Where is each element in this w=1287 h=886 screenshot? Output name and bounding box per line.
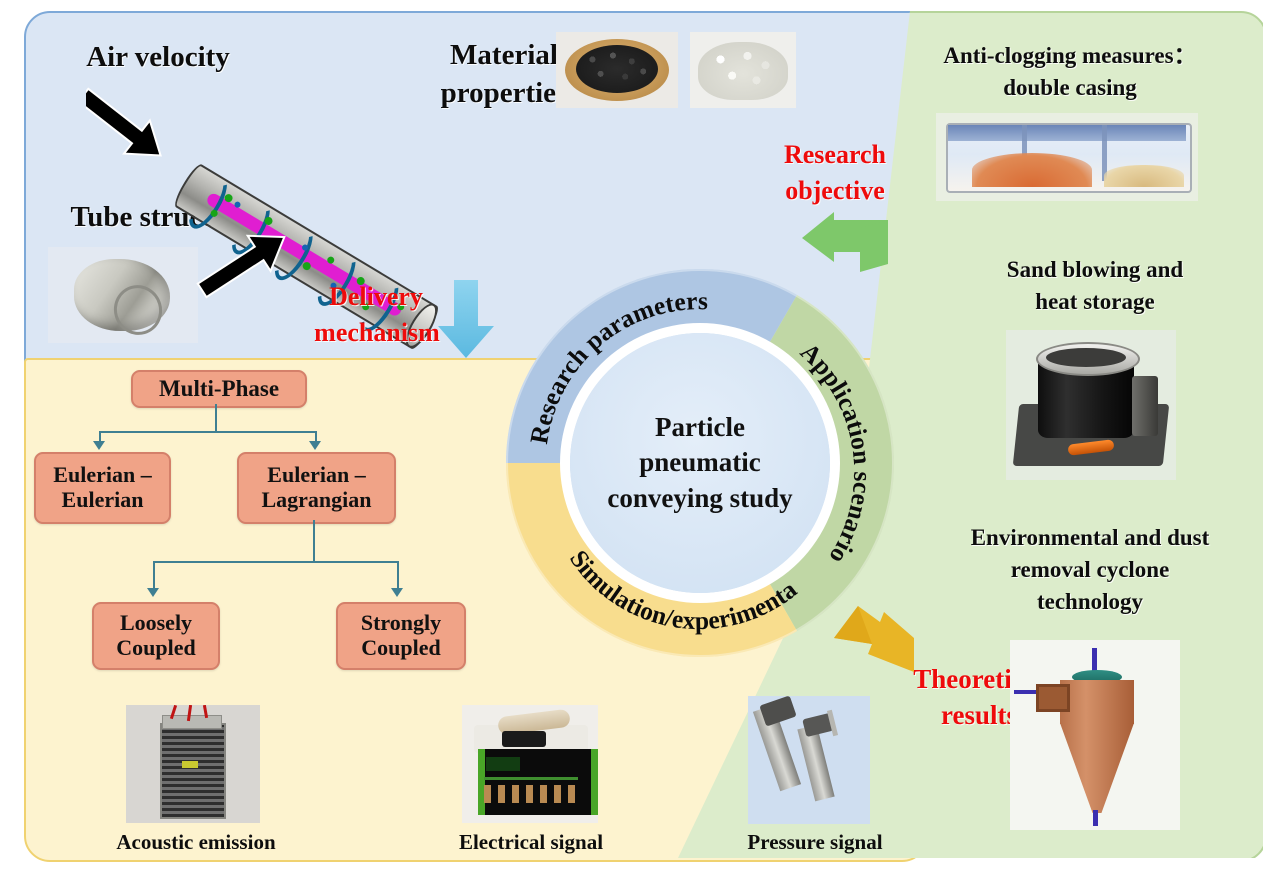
flowchart-node-label: Multi-Phase (159, 376, 279, 402)
flowchart-node-label-line1: Eulerian – (53, 463, 151, 488)
flowchart-node-label-line1: Loosely (120, 611, 192, 636)
heat-storage-caption-line1: Sand blowing and (970, 256, 1220, 283)
delivery-mechanism-arrow (434, 278, 504, 362)
flowchart-node-strongly-coupled[interactable]: Strongly Coupled (336, 602, 466, 670)
ring-center-disc: Particle pneumatic conveying study (570, 333, 830, 593)
air-velocity-label: Air velocity (48, 40, 268, 74)
cyclone-caption-line1: Environmental and dust (940, 524, 1240, 551)
research-objective-label-line2: objective (760, 176, 910, 207)
anti-clogging-caption-line2: double casing (920, 74, 1220, 101)
heat-storage-tank-photo (1006, 330, 1176, 480)
flowchart-edge-bus-2 (153, 561, 399, 563)
cyclone-caption-line3: technology (940, 588, 1240, 615)
flowchart-node-label-line1: Eulerian – (267, 463, 365, 488)
flowchart-node-label-line2: Eulerian (62, 488, 144, 513)
flowchart-edge-stem-1 (215, 404, 217, 432)
central-cycle-diagram: Research parameters Application scenario… (498, 261, 902, 665)
white-granules-photo (690, 32, 796, 108)
elbow-pipe-photo (48, 247, 198, 343)
ring-center-line-1: Particle (607, 410, 792, 445)
electrical-signal-photo (462, 705, 598, 823)
flowchart-edge-drop-lc (153, 561, 155, 589)
cyclone-caption-line2: removal cyclone (940, 556, 1240, 583)
acoustic-emission-caption: Acoustic emission (96, 830, 296, 855)
acoustic-emission-photo (126, 705, 260, 823)
delivery-mechanism-label-line1: Delivery (296, 282, 456, 313)
flowchart-edge-bus-1 (99, 431, 317, 433)
flowchart-node-label-line1: Strongly (361, 611, 441, 636)
flowchart-node-loosely-coupled[interactable]: Loosely Coupled (92, 602, 220, 670)
flowchart-node-label-line2: Lagrangian (261, 488, 371, 513)
anti-clogging-caption-line1: Anti-clogging measures： (920, 42, 1220, 69)
flowchart-node-label-line2: Coupled (116, 636, 195, 661)
cyclone-separator-photo (1010, 640, 1180, 830)
research-objective-label-line1: Research (760, 140, 910, 171)
graphical-abstract-figure: Air velocity Tube structure Material pro… (0, 0, 1287, 886)
air-velocity-arrow (86, 82, 216, 172)
ring-center-line-2: pneumatic (607, 445, 792, 480)
pressure-signal-photo (748, 696, 870, 824)
flowchart-node-eulerian-eulerian[interactable]: Eulerian – Eulerian (34, 452, 171, 524)
flowchart-arrowhead-lc (147, 588, 159, 597)
flowchart-node-label-line2: Coupled (361, 636, 440, 661)
flowchart-arrowhead-ee (93, 441, 105, 450)
flowchart-arrowhead-el (309, 441, 321, 450)
flowchart-edge-stem-2 (313, 520, 315, 562)
flowchart-edge-drop-sc (397, 561, 399, 589)
ring-center-line-3: conveying study (607, 481, 792, 516)
pressure-signal-caption: Pressure signal (720, 830, 910, 855)
flowchart-arrowhead-sc (391, 588, 403, 597)
black-pellets-photo (556, 32, 678, 108)
heat-storage-caption-line2: heat storage (970, 288, 1220, 315)
electrical-signal-caption: Electrical signal (436, 830, 626, 855)
flowchart-node-eulerian-lagrangian[interactable]: Eulerian – Lagrangian (237, 452, 396, 524)
double-casing-photo (936, 113, 1198, 201)
flowchart-node-multi-phase[interactable]: Multi-Phase (131, 370, 307, 408)
